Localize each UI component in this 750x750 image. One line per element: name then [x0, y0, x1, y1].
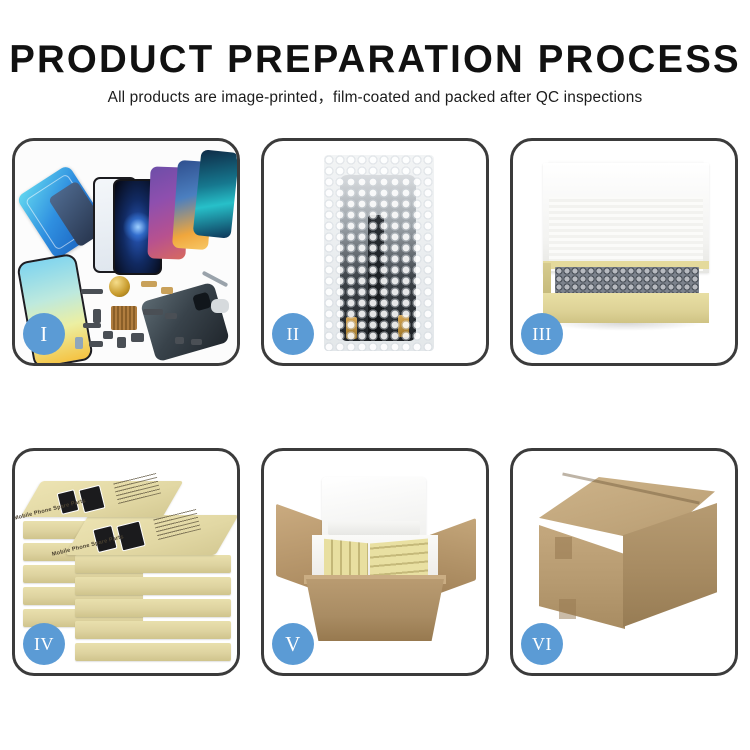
foam-sheet	[549, 197, 703, 271]
page-title: PRODUCT PREPARATION PROCESS	[6, 38, 745, 82]
process-step-panel-1[interactable]: I	[12, 138, 240, 366]
carton-left-face	[539, 525, 625, 629]
process-step-panel-2[interactable]: II	[261, 138, 489, 366]
foam-box-lid	[322, 477, 426, 539]
carton-tape-upper	[555, 537, 572, 559]
process-step-panel-6[interactable]: VI	[510, 448, 738, 676]
speaker-coil-part	[109, 276, 130, 297]
step-badge-1: I	[23, 313, 65, 355]
bubble-wrap-bag	[324, 155, 434, 351]
step-badge-5: V	[272, 623, 314, 665]
step-badge-3: III	[521, 313, 563, 355]
box-shadow	[549, 323, 703, 331]
carton-front-face	[306, 579, 444, 641]
carton-tape-lower	[559, 599, 576, 619]
ic-chip-part	[111, 306, 137, 330]
step-badge-4: IV	[23, 623, 65, 665]
page-header: PRODUCT PREPARATION PROCESS All products…	[0, 0, 750, 130]
kraft-box-front	[543, 293, 709, 323]
phone-display-teal	[193, 149, 237, 239]
process-step-panel-3[interactable]: III	[510, 138, 738, 366]
process-step-panel-5[interactable]: V	[261, 448, 489, 676]
process-step-panel-4[interactable]: Mobile Phone Spare Parts Mobile Phone Sp…	[12, 448, 240, 676]
step-badge-6: VI	[521, 623, 563, 665]
top-box-front	[65, 515, 237, 555]
bubble-texture	[324, 155, 434, 351]
page-subtitle: All products are image-printed，film-coat…	[0, 88, 750, 108]
process-step-grid: I II III	[12, 138, 738, 738]
step-badge-2: II	[272, 313, 314, 355]
